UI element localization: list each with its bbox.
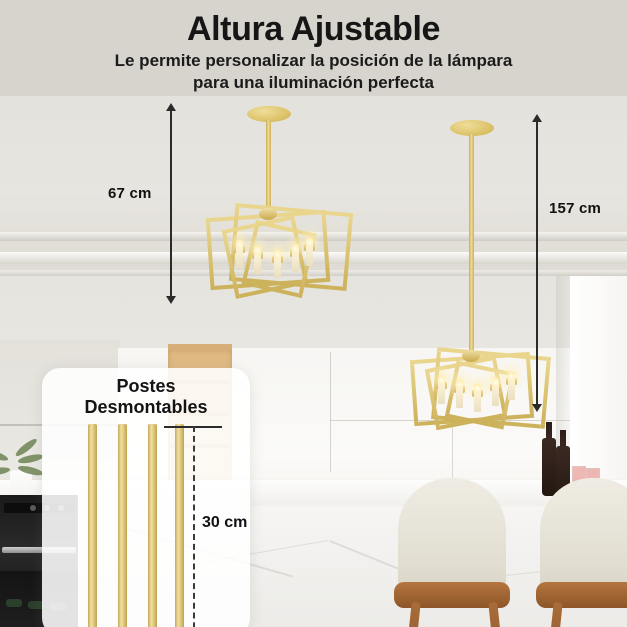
gold-post xyxy=(175,424,184,627)
candle-flame xyxy=(438,374,445,384)
gold-post xyxy=(118,424,127,627)
dimension-line-right xyxy=(536,119,538,407)
dimension-label-left: 67 cm xyxy=(108,185,152,202)
detachable-posts-card: Postes Desmontables 30 cm xyxy=(42,368,250,627)
candle-flame xyxy=(236,238,243,248)
cabinet-seam-vertical-2 xyxy=(452,420,453,480)
subtitle-line-1: Le permite personalizar la posición de l… xyxy=(60,50,567,72)
dimension-line-left xyxy=(170,108,172,298)
card-title-line-1: Postes xyxy=(42,376,250,397)
subtitle-line-2: para una iluminación perfecta xyxy=(60,72,567,94)
wine-bottle xyxy=(542,438,556,496)
candle-flame xyxy=(254,244,261,254)
dimension-label-right: 157 cm xyxy=(549,200,601,217)
gold-post xyxy=(148,424,157,627)
product-feature-image: 67 cm 157 cm Altura Ajustable Le permite… xyxy=(0,0,627,627)
page-subtitle: Le permite personalizar la posición de l… xyxy=(60,50,567,94)
candle-flame xyxy=(306,236,313,246)
fixture-hub-left xyxy=(259,208,277,220)
gold-post xyxy=(88,424,97,627)
candle-flame xyxy=(474,382,481,392)
cabinet-seam-vertical-1 xyxy=(330,352,331,472)
downrod-right xyxy=(469,134,474,356)
arrow-down-icon xyxy=(532,404,542,412)
dimension-line-card xyxy=(193,426,195,627)
candle-flame xyxy=(292,242,299,252)
downrod-left xyxy=(266,120,271,214)
card-title-line-2: Desmontables xyxy=(42,397,250,418)
candle-flame xyxy=(274,248,281,258)
candle-flame xyxy=(508,370,515,380)
candle-flame xyxy=(492,376,499,386)
arrow-down-icon xyxy=(166,296,176,304)
page-title: Altura Ajustable xyxy=(0,10,627,49)
fixture-hub-right xyxy=(462,350,480,362)
candle-flame xyxy=(456,378,463,388)
dimension-label-card: 30 cm xyxy=(202,514,247,532)
card-title: Postes Desmontables xyxy=(42,376,250,418)
